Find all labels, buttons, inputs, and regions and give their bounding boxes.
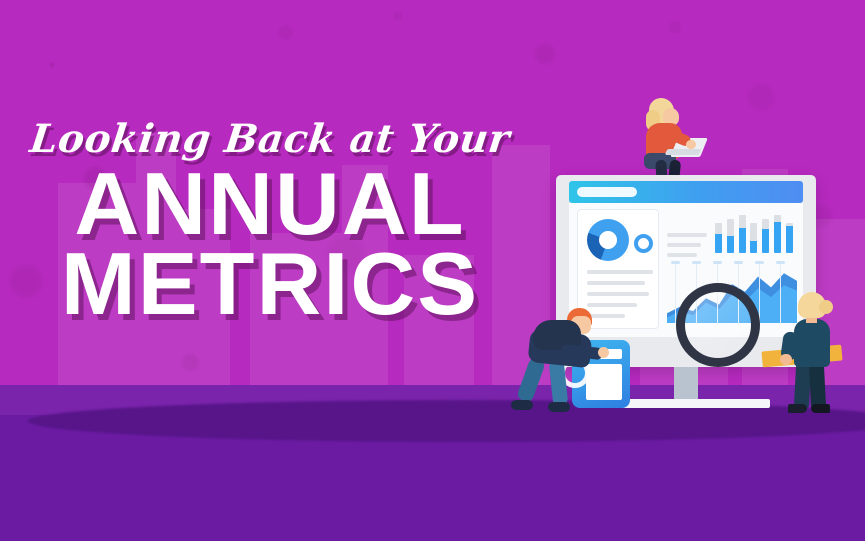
hand bbox=[686, 140, 696, 149]
placeholder-line bbox=[587, 270, 653, 274]
person-woman-with-magnifier bbox=[778, 292, 848, 422]
bar-filled-segment bbox=[786, 226, 793, 253]
shoe-right bbox=[811, 404, 830, 413]
placeholder-line bbox=[667, 243, 701, 247]
bar-chart-bar bbox=[739, 215, 746, 253]
placeholder-line bbox=[667, 253, 697, 257]
headline-block: Looking Back at Your ANNUAL METRICS bbox=[0, 120, 540, 325]
shoe-front bbox=[548, 402, 570, 412]
gridline-tick bbox=[776, 261, 785, 264]
banner-canvas: Looking Back at Your ANNUAL METRICS bbox=[0, 0, 865, 541]
gridline-tick bbox=[734, 261, 743, 264]
bar-chart-bar bbox=[715, 223, 722, 253]
gridline-tick bbox=[755, 261, 764, 264]
gridline-tick bbox=[713, 261, 722, 264]
bar-filled-segment bbox=[715, 234, 722, 253]
bar-filled-segment bbox=[739, 228, 746, 253]
bar-chart-bar bbox=[762, 219, 769, 253]
address-bar-pill[interactable] bbox=[577, 187, 637, 197]
bar-filled-segment bbox=[750, 241, 757, 253]
magnifier-icon bbox=[676, 283, 760, 367]
placeholder-line bbox=[667, 233, 707, 237]
bar-filled-segment bbox=[762, 229, 769, 253]
hair-bun bbox=[819, 300, 833, 314]
headline-line-1: ANNUAL bbox=[0, 163, 545, 245]
gridline-tick bbox=[692, 261, 701, 264]
placeholder-line bbox=[587, 292, 649, 296]
bar-filled-segment bbox=[727, 236, 734, 253]
headline-line-2: METRICS bbox=[0, 243, 545, 325]
hand bbox=[598, 347, 609, 358]
shoe-back bbox=[511, 400, 533, 410]
person-woman-on-monitor bbox=[632, 98, 704, 183]
magnifier-ring bbox=[676, 283, 760, 367]
bar-chart-bar bbox=[774, 215, 781, 253]
bar-chart-bar bbox=[727, 219, 734, 253]
bar-chart-bar bbox=[750, 223, 757, 253]
donut-chart bbox=[587, 219, 629, 261]
gridline-tick bbox=[671, 261, 680, 264]
person-man-pushing-panel bbox=[505, 306, 623, 422]
bar-chart bbox=[715, 211, 797, 253]
leg-back bbox=[516, 357, 546, 404]
monitor-stand-base bbox=[606, 399, 770, 408]
bar-filled-segment bbox=[774, 222, 781, 253]
small-ring-chart bbox=[634, 234, 653, 253]
torso-blazer bbox=[794, 319, 830, 367]
shoe-left bbox=[788, 404, 807, 413]
hand bbox=[780, 354, 792, 365]
placeholder-line bbox=[587, 281, 645, 285]
bar-chart-bar bbox=[786, 223, 793, 253]
browser-title-bar bbox=[569, 181, 803, 203]
leg-front bbox=[549, 359, 569, 406]
laptop-keyboard bbox=[665, 149, 702, 155]
